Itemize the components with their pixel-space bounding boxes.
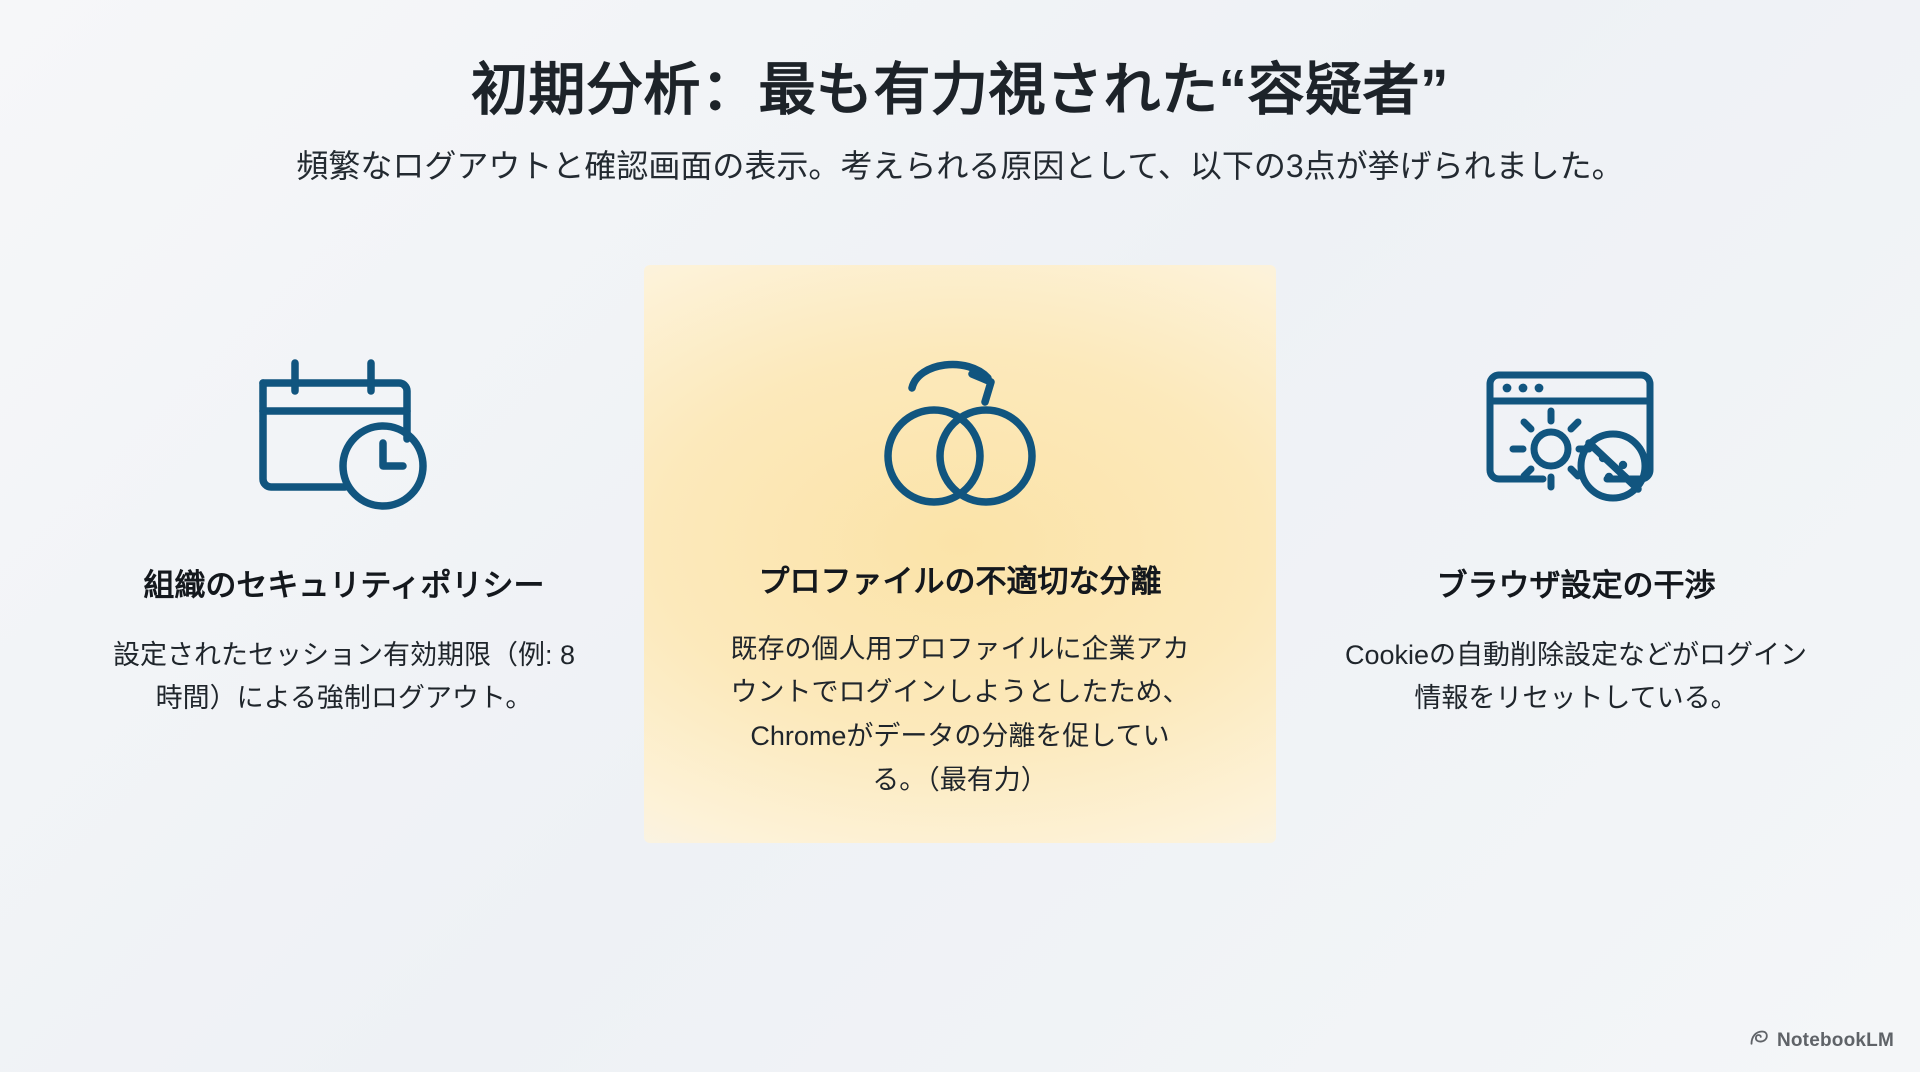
calendar-clock-icon xyxy=(249,313,439,561)
card-body: 設定されたセッション有効期限（例: 8時間）による強制ログアウト。 xyxy=(109,634,579,721)
notebooklm-logo-icon xyxy=(1748,1028,1769,1054)
page-subtitle: 頻繁なログアウトと確認画面の表示。考えられる原因として、以下の3点が挙げられまし… xyxy=(0,146,1920,188)
card-security-policy: 組織のセキュリティポリシー 設定されたセッション有効期限（例: 8時間）による強… xyxy=(44,265,644,721)
browser-settings-cookie-blocked-icon xyxy=(1481,313,1671,561)
card-profile-separation: プロファイルの不適切な分離 既存の個人用プロファイルに企業アカウントでログインし… xyxy=(644,265,1276,843)
footer-brand: NotebookLM xyxy=(1748,1028,1894,1054)
cards-container: 組織のセキュリティポリシー 設定されたセッション有効期限（例: 8時間）による強… xyxy=(0,265,1920,830)
brand-label: NotebookLM xyxy=(1777,1030,1894,1052)
card-body: Cookieの自動削除設定などがログイン情報をリセットしている。 xyxy=(1341,634,1811,721)
card-title: プロファイルの不適切な分離 xyxy=(759,563,1162,602)
overlapping-circles-refresh-icon xyxy=(860,319,1060,561)
slide-root: 初期分析：最も有力視された“容疑者” 頻繁なログアウトと確認画面の表示。考えられ… xyxy=(0,0,1920,1072)
slide-header: 初期分析：最も有力視された“容疑者” 頻繁なログアウトと確認画面の表示。考えられ… xyxy=(0,58,1920,187)
card-title: ブラウザ設定の干渉 xyxy=(1437,567,1716,606)
card-body: 既存の個人用プロファイルに企業アカウントでログインしようとしたため、Chrome… xyxy=(725,628,1195,803)
card-title: 組織のセキュリティポリシー xyxy=(143,567,544,606)
page-title: 初期分析：最も有力視された“容疑者” xyxy=(0,58,1920,124)
card-browser-settings: ブラウザ設定の干渉 Cookieの自動削除設定などがログイン情報をリセットしてい… xyxy=(1276,265,1876,721)
